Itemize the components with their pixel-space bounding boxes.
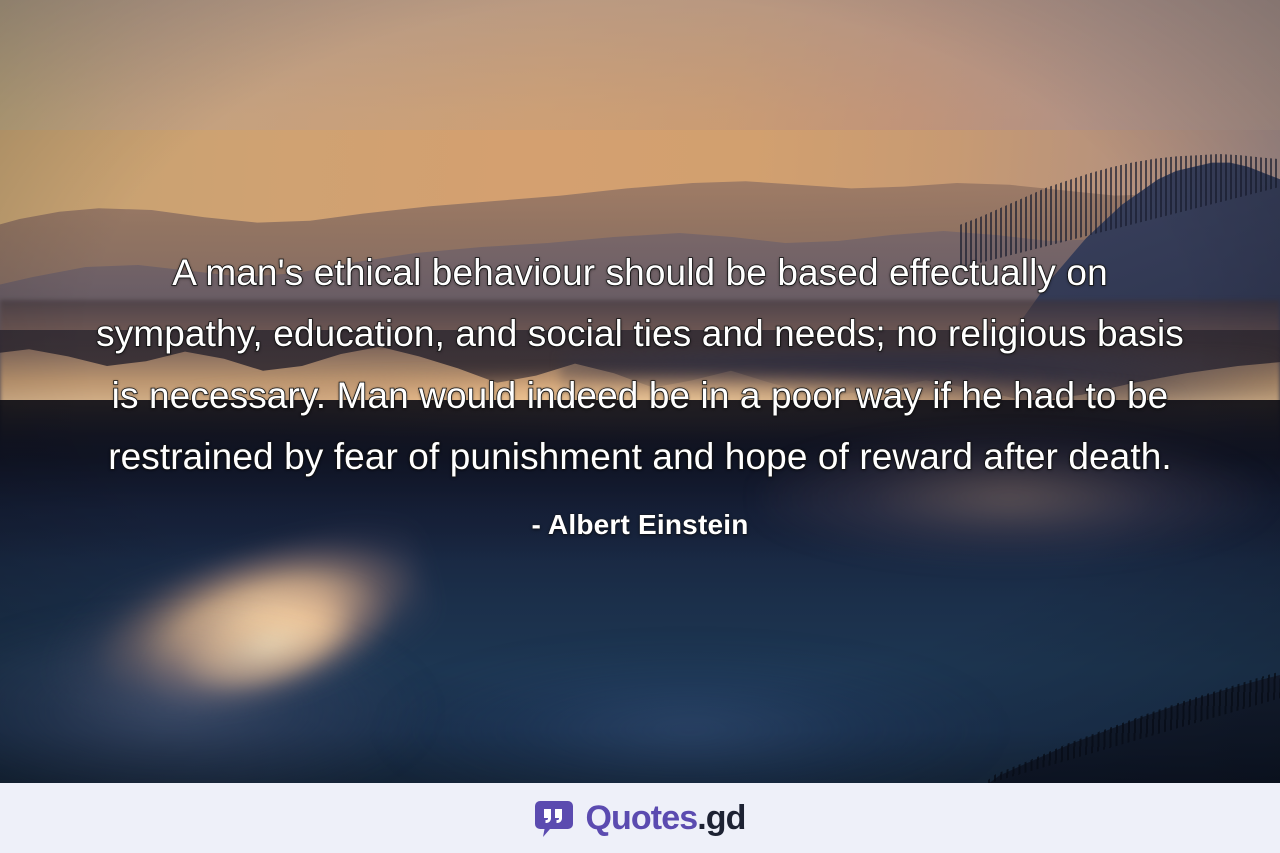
quote-card-page: A man's ethical behaviour should be base… [0, 0, 1280, 853]
brand-logo-link[interactable]: Quotes.gd [534, 798, 745, 838]
site-footer: Quotes.gd [0, 783, 1280, 853]
brand-tld-text: .gd [697, 801, 745, 835]
quote-text: A man's ethical behaviour should be base… [90, 242, 1190, 488]
brand-name-text: Quotes [585, 801, 697, 835]
quote-overlay: A man's ethical behaviour should be base… [0, 0, 1280, 783]
quote-bubble-icon [534, 798, 574, 838]
brand-wordmark: Quotes.gd [585, 801, 745, 835]
quote-author: - Albert Einstein [531, 509, 748, 541]
